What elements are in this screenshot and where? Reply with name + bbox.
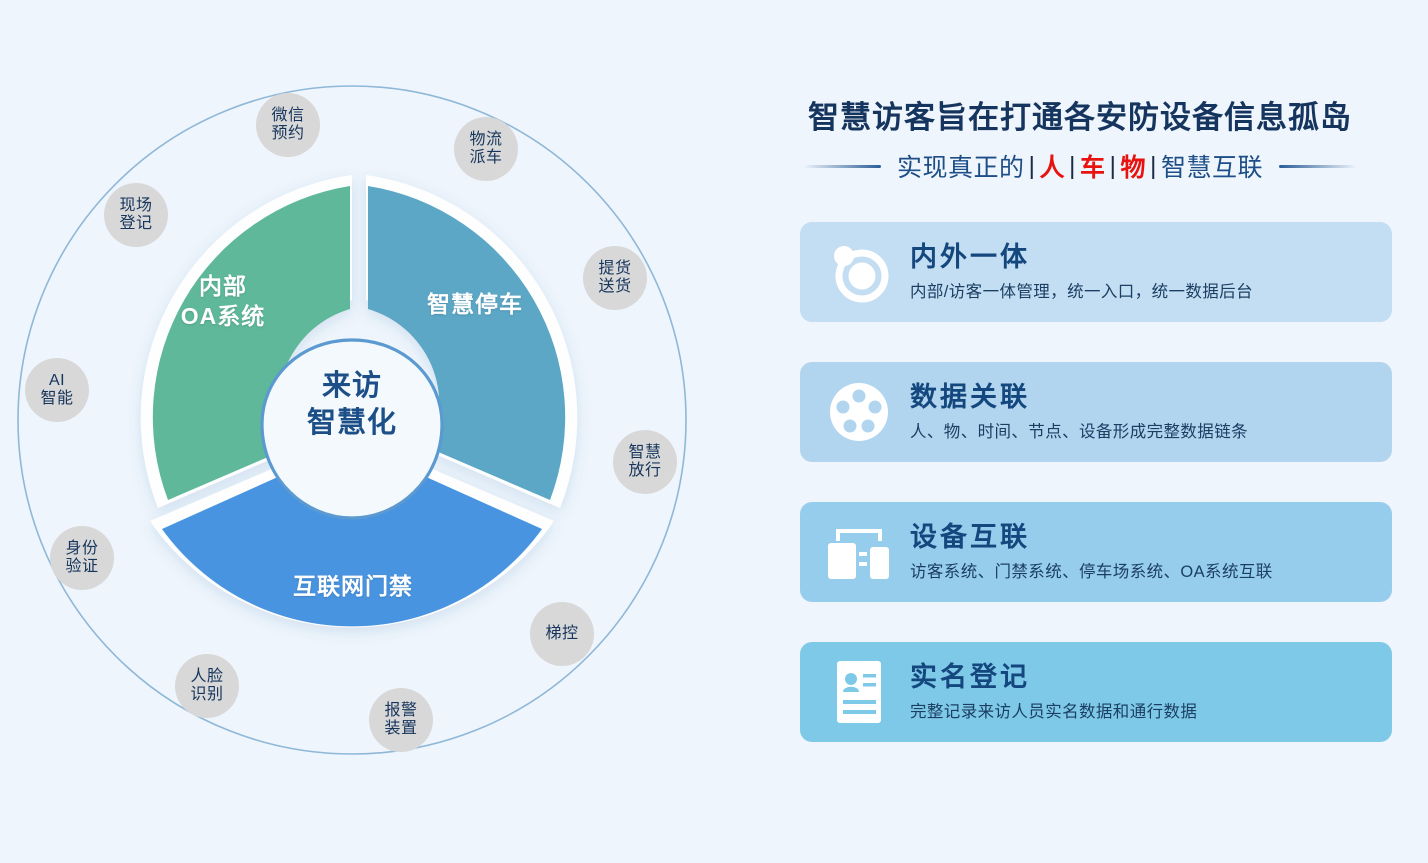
feature-card-integration[interactable]: 内外一体 内部/访客一体管理，统一入口，统一数据后台 xyxy=(800,222,1392,322)
subtitle-divider-4: | xyxy=(1150,152,1157,181)
segment-label-internet-access: 互联网门禁 xyxy=(278,572,428,602)
card-title: 内外一体 xyxy=(910,242,1253,273)
card-text: 设备互联 访客系统、门禁系统、停车场系统、OA系统互联 xyxy=(910,522,1273,581)
subtitle-suffix: 智慧互联 xyxy=(1161,148,1263,184)
card-desc: 人、物、时间、节点、设备形成完整数据链条 xyxy=(910,418,1248,442)
feature-card-device-link[interactable]: 设备互联 访客系统、门禁系统、停车场系统、OA系统互联 xyxy=(800,502,1392,602)
card-title: 数据关联 xyxy=(910,382,1248,413)
page-subtitle: 实现真正的 | 人 | 车 | 物 | 智慧互联 xyxy=(897,148,1263,184)
subtitle-row: 实现真正的 | 人 | 车 | 物 | 智慧互联 xyxy=(760,148,1400,184)
card-text: 实名登记 完整记录来访人员实名数据和通行数据 xyxy=(910,662,1197,721)
bubble-ai-intelligence[interactable]: AI 智能 xyxy=(25,358,89,422)
bubble-logistics-dispatch[interactable]: 物流 派车 xyxy=(454,117,518,181)
right-panel: 智慧访客旨在打通各安防设备信息孤岛 实现真正的 | 人 | 车 | 物 | 智慧… xyxy=(760,0,1428,863)
card-text: 数据关联 人、物、时间、节点、设备形成完整数据链条 xyxy=(910,382,1248,441)
bubble-face-recognition[interactable]: 人脸 识别 xyxy=(175,654,239,718)
card-title: 实名登记 xyxy=(910,662,1197,693)
bubble-elevator-control[interactable]: 梯控 xyxy=(530,602,594,666)
card-title: 设备互联 xyxy=(910,522,1273,553)
subtitle-highlight-person: 人 xyxy=(1039,148,1065,184)
subtitle-prefix: 实现真正的 xyxy=(897,148,1025,184)
center-label: 来访 智慧化 xyxy=(272,368,432,442)
feature-card-data-link[interactable]: 数据关联 人、物、时间、节点、设备形成完整数据链条 xyxy=(800,362,1392,462)
segment-label-smart-parking: 智慧停车 xyxy=(410,290,540,320)
infographic-page: 内部 OA系统 智慧停车 互联网门禁 来访 智慧化 微信 预约 现场 登记 AI… xyxy=(0,0,1428,863)
card-text: 内外一体 内部/访客一体管理，统一入口，统一数据后台 xyxy=(910,242,1253,301)
segment-label-internal-oa: 内部 OA系统 xyxy=(158,272,288,332)
subtitle-highlight-object: 物 xyxy=(1121,148,1147,184)
card-desc: 访客系统、门禁系统、停车场系统、OA系统互联 xyxy=(910,558,1273,582)
bubble-smart-release[interactable]: 智慧 放行 xyxy=(613,430,677,494)
card-desc: 完整记录来访人员实名数据和通行数据 xyxy=(910,698,1197,722)
bubble-onsite-register[interactable]: 现场 登记 xyxy=(104,183,168,247)
data-disc-icon xyxy=(822,379,896,445)
card-desc: 内部/访客一体管理，统一入口，统一数据后台 xyxy=(910,278,1253,302)
subtitle-divider-1: | xyxy=(1028,152,1035,181)
page-title: 智慧访客旨在打通各安防设备信息孤岛 xyxy=(760,92,1400,137)
subtitle-divider-2: | xyxy=(1069,152,1076,181)
bubble-alarm-device[interactable]: 报警 装置 xyxy=(369,688,433,752)
subtitle-divider-3: | xyxy=(1110,152,1117,181)
id-card-icon xyxy=(822,657,896,727)
subtitle-highlight-vehicle: 车 xyxy=(1080,148,1106,184)
visitor-circle-diagram: 内部 OA系统 智慧停车 互联网门禁 来访 智慧化 微信 预约 现场 登记 AI… xyxy=(0,0,760,863)
rule-left xyxy=(803,165,881,168)
feature-card-real-name[interactable]: 实名登记 完整记录来访人员实名数据和通行数据 xyxy=(800,642,1392,742)
bubble-pickup-delivery[interactable]: 提货 送货 xyxy=(583,246,647,310)
bubble-identity-verify[interactable]: 身份 验证 xyxy=(50,526,114,590)
orbit-icon xyxy=(822,239,896,305)
rule-right xyxy=(1279,165,1357,168)
devices-icon xyxy=(822,521,896,583)
bubble-wechat-booking[interactable]: 微信 预约 xyxy=(256,93,320,157)
